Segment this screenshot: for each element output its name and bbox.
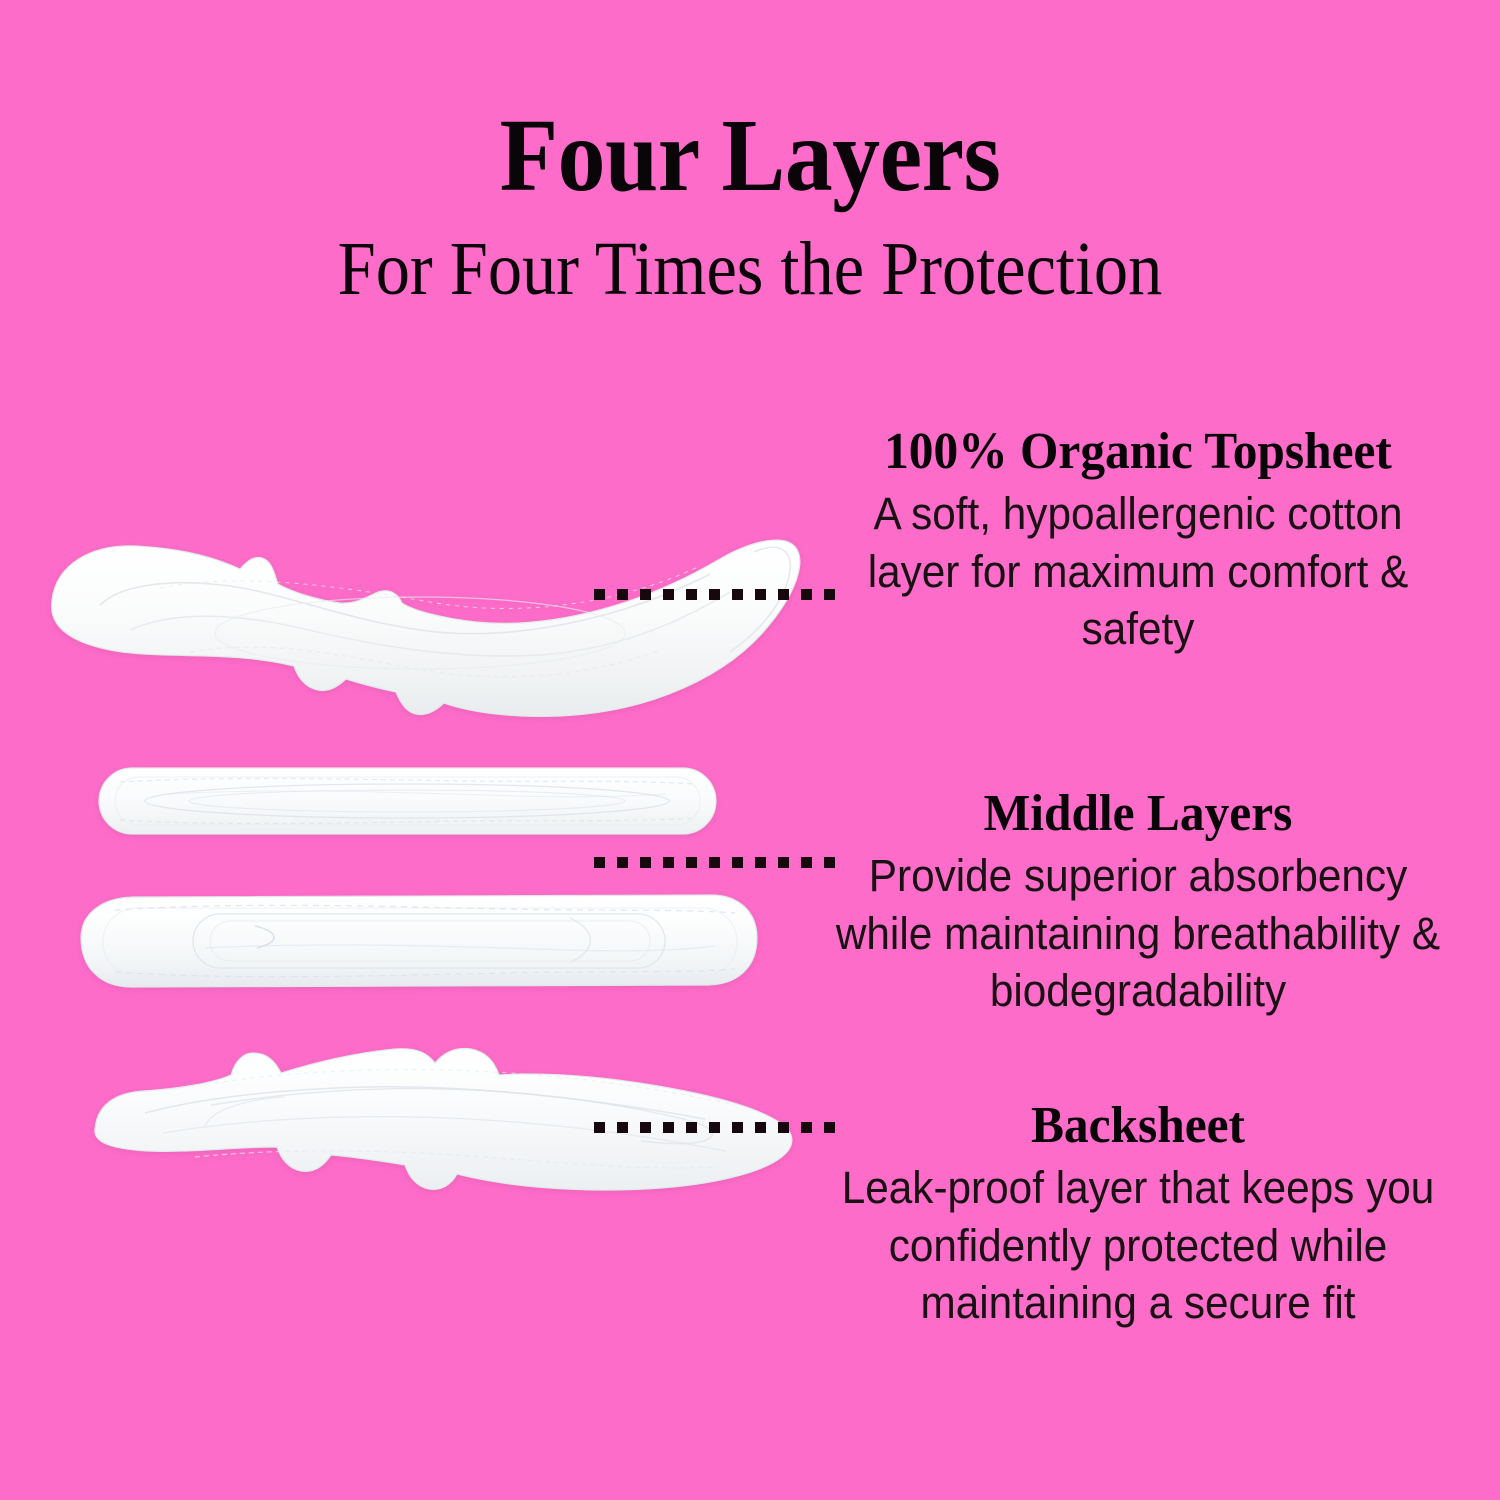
curved-winged-pad-top-icon bbox=[40, 500, 810, 735]
layer-heading-topsheet: 100% Organic Topsheet bbox=[825, 424, 1452, 479]
connector-dotted-line-topsheet bbox=[594, 589, 836, 600]
infographic-canvas: Four Layers For Four Times the Protectio… bbox=[0, 0, 1500, 1500]
layer-block-middle: Middle Layers Provide superior absorbenc… bbox=[808, 786, 1468, 1020]
layer-description-backsheet: Leak-proof layer that keeps you confiden… bbox=[828, 1159, 1448, 1332]
thick-absorbent-core-strip-icon bbox=[75, 888, 765, 998]
page-title: Four Layers bbox=[60, 104, 1440, 208]
connector-dotted-line-middle bbox=[594, 857, 836, 868]
layer-block-backsheet: Backsheet Leak-proof layer that keeps yo… bbox=[808, 1098, 1468, 1332]
page-subtitle: For Four Times the Protection bbox=[75, 231, 1425, 307]
connector-dotted-line-backsheet bbox=[594, 1122, 836, 1133]
layer-heading-backsheet: Backsheet bbox=[825, 1098, 1452, 1153]
layer-description-topsheet: A soft, hypoallergenic cotton layer for … bbox=[828, 485, 1448, 658]
layer-heading-middle: Middle Layers bbox=[825, 786, 1452, 841]
thin-flat-strip-layer-icon bbox=[95, 760, 720, 845]
pad-layer-1-illustration bbox=[40, 500, 810, 735]
pad-layer-3-illustration bbox=[75, 888, 765, 998]
layer-block-topsheet: 100% Organic Topsheet A soft, hypoallerg… bbox=[808, 424, 1468, 658]
layer-description-middle: Provide superior absorbency while mainta… bbox=[828, 847, 1448, 1020]
pad-layer-2-illustration bbox=[95, 760, 720, 845]
